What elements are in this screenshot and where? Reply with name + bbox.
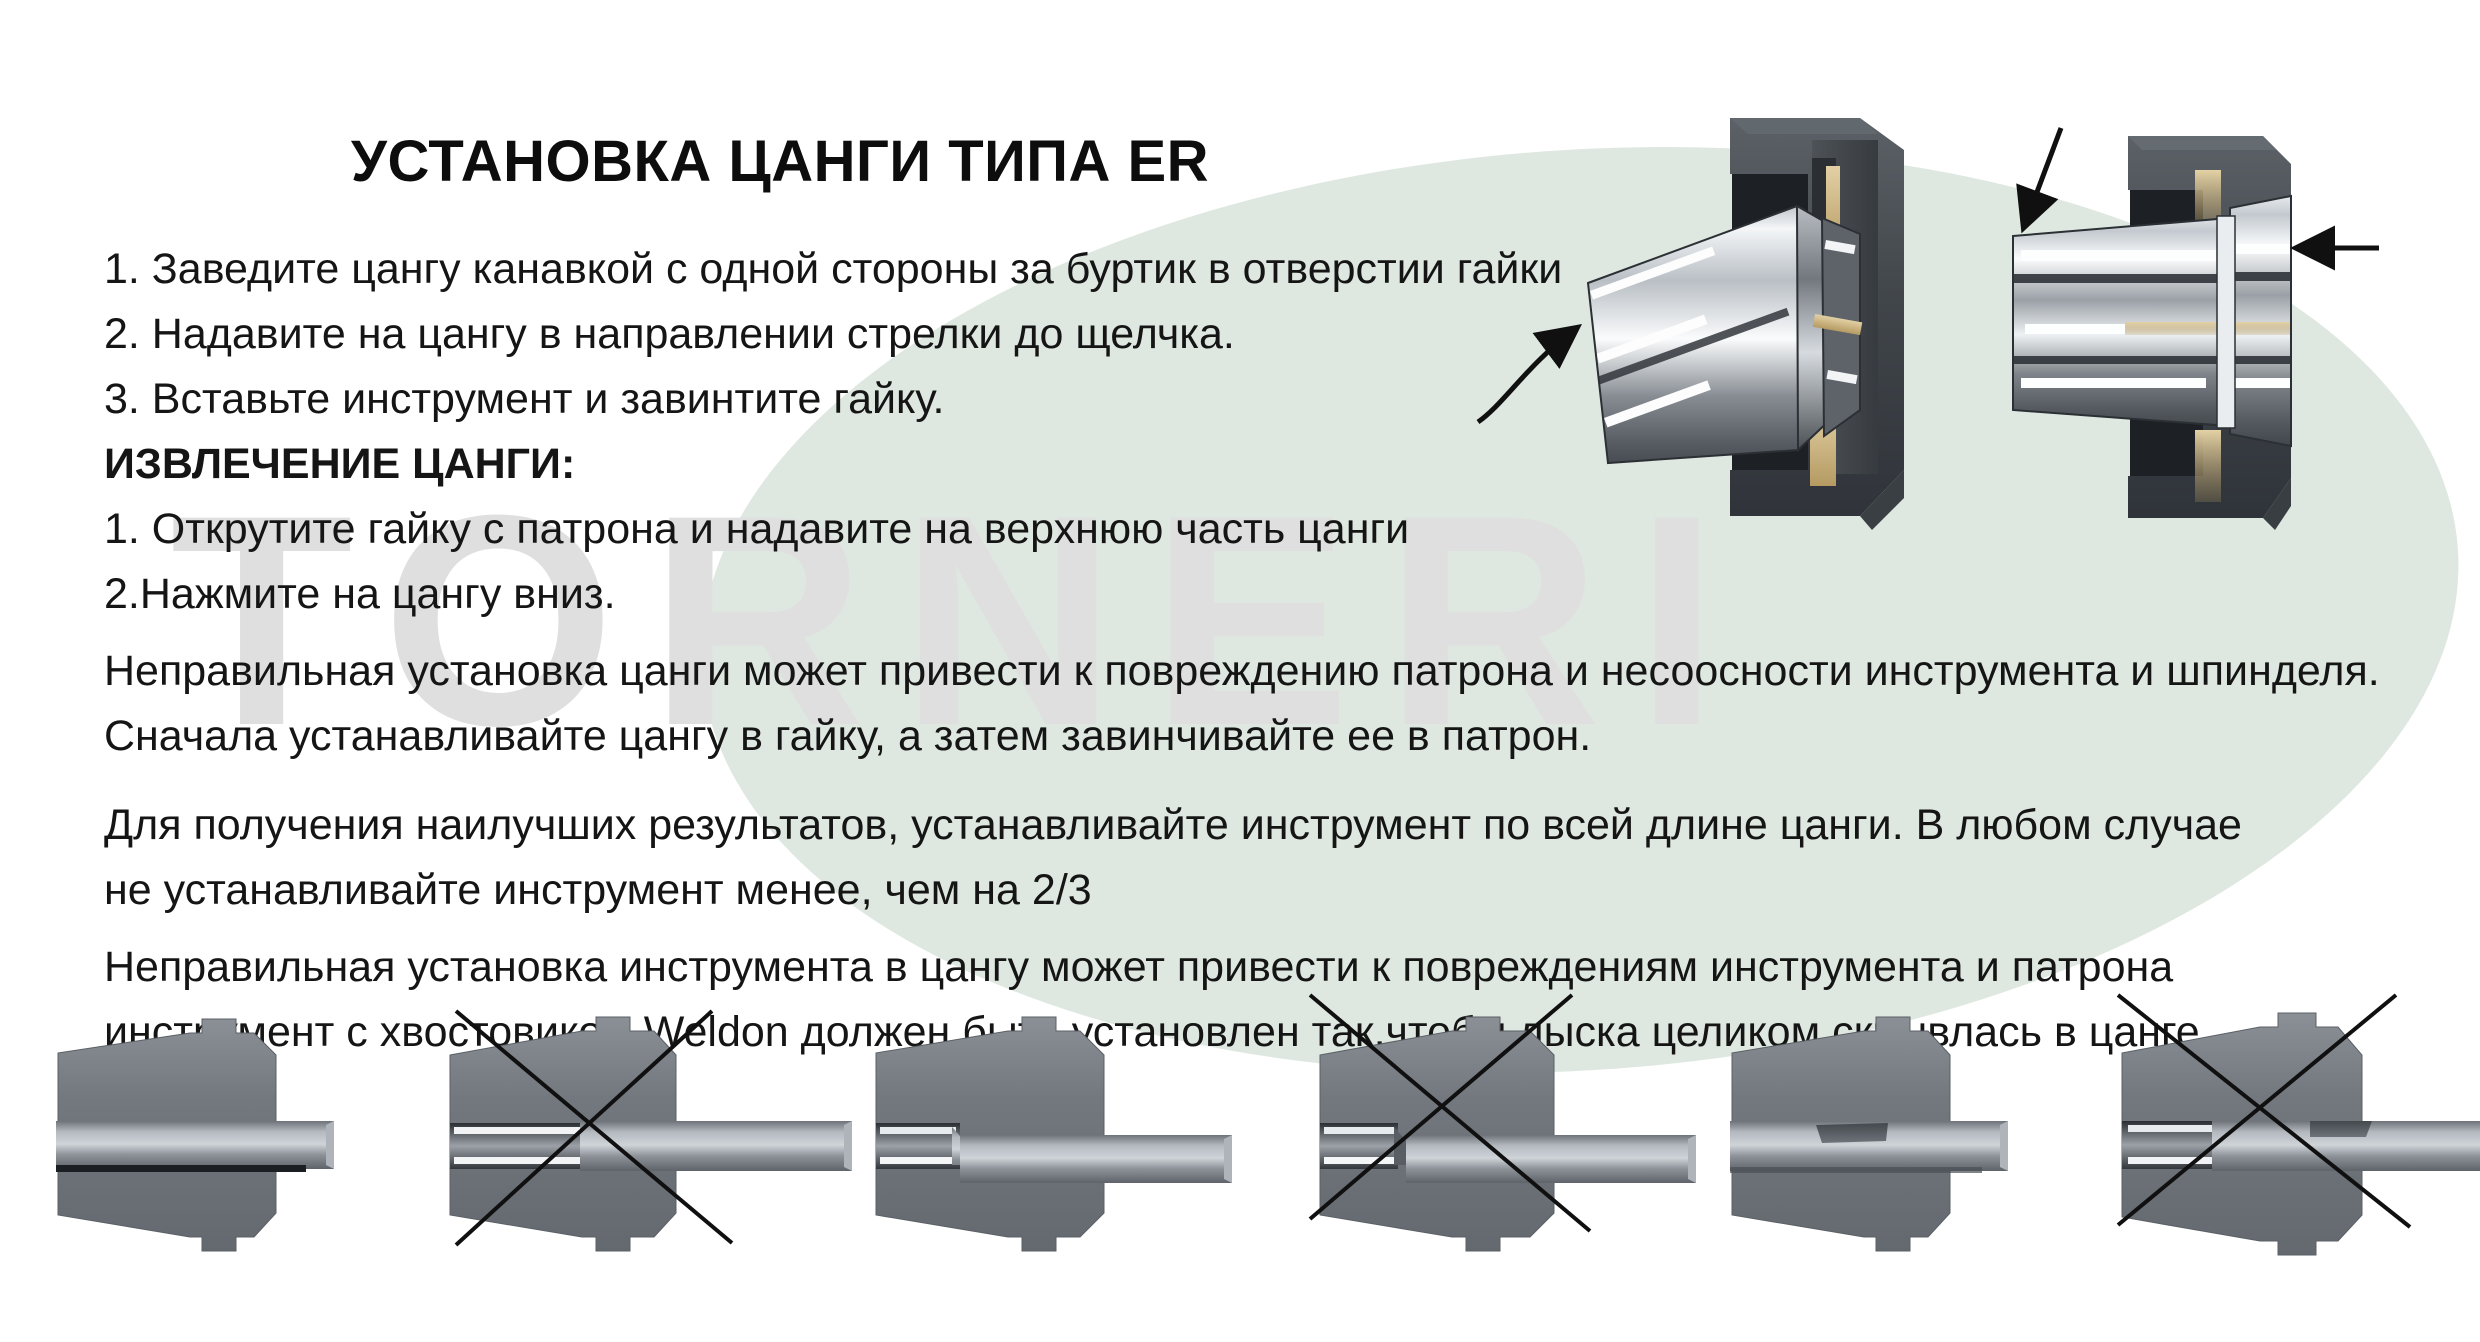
poster-canvas: TORNERI УСТАНОВКА ЦАНГИ ТИПА ER 1. Завед… xyxy=(0,0,2480,1342)
best-practice-line-2: не устанавливайте инструмент менее, чем … xyxy=(104,869,2404,912)
diagonal-arrow-icon xyxy=(2025,128,2061,224)
figure-stepped-tool-incorrect xyxy=(1290,975,1710,1320)
removal-step-2: 2.Нажмите на цангу вниз. xyxy=(104,573,2404,616)
best-practice-line-1: Для получения наилучших результатов, уст… xyxy=(104,804,2404,847)
figure-tool-too-short xyxy=(440,975,870,1320)
bottom-figure-row xyxy=(40,975,2450,1320)
warning-line-1: Неправильная установка цанги может приве… xyxy=(104,650,2404,693)
illustration-collet-seated-in-nut xyxy=(1995,78,2470,568)
figure-weldon-flat-inside-collet xyxy=(1710,975,2110,1320)
illustration-collet-tilted-into-nut xyxy=(1560,78,1990,568)
figure-tool-full-length xyxy=(40,975,440,1320)
warning-line-2: Сначала устанавливайте цангу в гайку, а … xyxy=(104,715,2404,758)
page-title: УСТАНОВКА ЦАНГИ ТИПА ER xyxy=(0,128,1560,195)
figure-stepped-tool-correct xyxy=(870,975,1290,1320)
figure-weldon-flat-outside-collet xyxy=(2110,975,2480,1320)
